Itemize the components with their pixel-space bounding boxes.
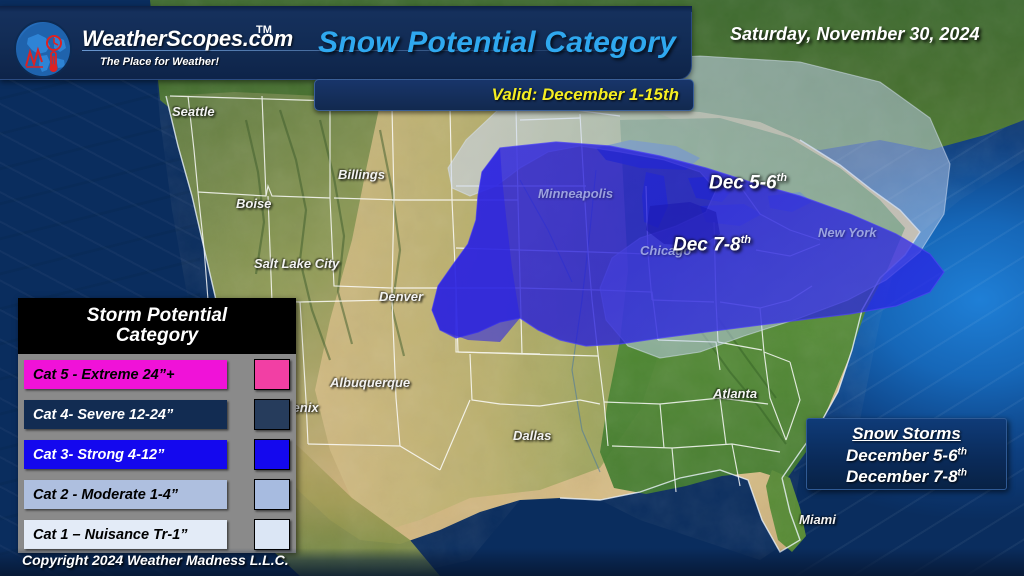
page-title: Snow Potential Category [318,26,676,60]
snow-storms-box: Snow Storms December 5-6th December 7-8t… [806,418,1007,490]
snow-storms-date-1: December 5-6th [807,446,1006,466]
valid-period-text: Valid: December 1-15th [492,85,679,105]
legend-title-line-2: Category [116,325,198,346]
brand-trademark: TM [256,24,272,36]
city-label: Miami [799,512,836,527]
snow-storms-date-2: December 7-8th [807,467,1006,487]
legend-title-box: Storm Potential Category [18,298,296,354]
city-label: Denver [379,289,423,304]
legend-title: Storm Potential Category [87,306,227,346]
legend-label-bar: Cat 2 - Moderate 1-4” [24,480,227,509]
snow-storms-title: Snow Storms [807,424,1006,444]
copyright-text: Copyright 2024 Weather Madness L.L.C. [22,552,289,568]
brand-tagline: The Place for Weather! [100,56,219,68]
legend-row: Cat 5 - Extreme 24”+ [18,356,296,396]
legend-color-swatch [254,399,290,430]
city-label: Boise [236,196,271,211]
storm-label-dec-7-8: Dec 7-8th [673,234,751,256]
date-label: Saturday, November 30, 2024 [730,24,979,45]
globe-weather-icon [14,20,72,78]
city-label: Minneapolis [538,186,613,201]
header-top-rule [0,6,692,12]
legend-label-bar: Cat 5 - Extreme 24”+ [24,360,227,389]
legend-color-swatch [254,519,290,550]
valid-period-banner: Valid: December 1-15th [314,79,694,111]
legend-row: Cat 4- Severe 12-24” [18,396,296,436]
legend-label-bar: Cat 3- Strong 4-12” [24,440,227,469]
legend-label: Cat 2 - Moderate 1-4” [33,487,178,503]
city-label: New York [818,225,877,240]
legend-label-bar: Cat 4- Severe 12-24” [24,400,227,429]
legend-label-bar: Cat 1 – Nuisance Tr-1” [24,520,227,549]
legend-label: Cat 4- Severe 12-24” [33,407,173,423]
legend-color-swatch [254,359,290,390]
legend-color-swatch [254,479,290,510]
legend-color-swatch [254,439,290,470]
legend-label: Cat 1 – Nuisance Tr-1” [33,527,187,543]
legend-panel: Storm Potential Category Cat 5 - Extreme… [18,298,296,553]
legend-label: Cat 5 - Extreme 24”+ [33,367,174,383]
city-label: Billings [338,167,385,182]
city-label: Atlanta [713,386,757,401]
city-label: Dallas [513,428,551,443]
city-label: Salt Lake City [254,256,339,271]
city-label: Seattle [172,104,215,119]
city-label: Albuquerque [330,375,410,390]
legend-label: Cat 3- Strong 4-12” [33,447,164,463]
storm-label-dec-5-6: Dec 5-6th [709,172,787,194]
legend-title-line-1: Storm Potential [87,305,227,326]
legend-row: Cat 3- Strong 4-12” [18,436,296,476]
legend-row: Cat 2 - Moderate 1-4” [18,476,296,516]
weather-map-graphic: SeattleBillingsBoiseSalt Lake CityDenver… [0,0,1024,576]
